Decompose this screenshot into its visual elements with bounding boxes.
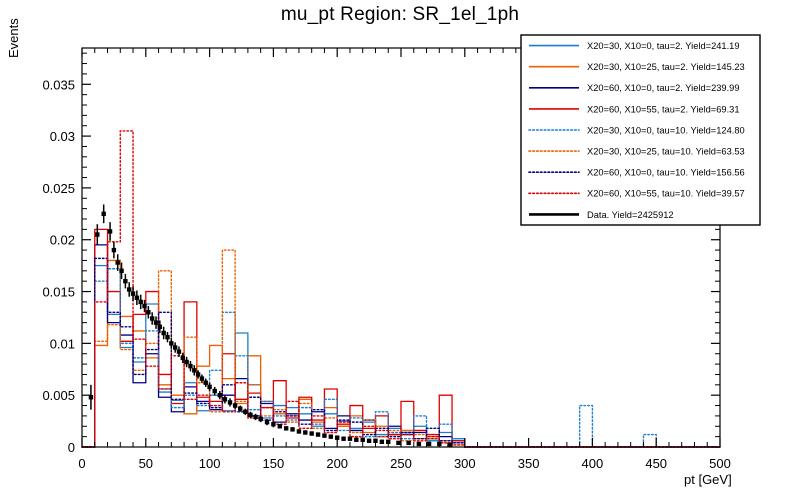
legend-label: X20=60, X10=55, tau=10. Yield=39.57: [587, 189, 745, 199]
data-marker: [169, 341, 173, 345]
data-marker: [154, 320, 158, 324]
data-marker: [108, 229, 112, 233]
data-marker: [361, 438, 365, 442]
x-tick-label: 200: [326, 456, 348, 471]
data-marker: [181, 356, 185, 360]
data-marker: [223, 397, 227, 401]
legend-label: X20=30, X10=0, tau=10. Yield=124.80: [587, 125, 745, 135]
data-marker: [303, 430, 307, 434]
data-marker: [367, 439, 371, 443]
x-tick-label: 100: [199, 456, 221, 471]
plot-area: 05010015020025030035040045050000.0050.01…: [0, 0, 800, 500]
data-marker: [238, 406, 242, 410]
data-marker: [112, 248, 116, 252]
data-marker: [233, 403, 237, 407]
data-marker: [161, 331, 165, 335]
x-tick-label: 400: [582, 456, 604, 471]
data-marker: [427, 442, 431, 446]
data-marker: [278, 424, 282, 428]
y-tick-label: 0.02: [50, 233, 75, 248]
data-marker: [258, 417, 262, 421]
x-tick-label: 500: [709, 456, 731, 471]
data-marker: [146, 310, 150, 314]
data-marker: [142, 304, 146, 308]
x-tick-label: 50: [139, 456, 153, 471]
data-marker: [322, 433, 326, 437]
legend-label: X20=30, X10=25, tau=2. Yield=145.23: [587, 62, 745, 72]
y-tick-label: 0.01: [50, 336, 75, 351]
y-tick-label: 0.025: [42, 181, 75, 196]
x-tick-label: 150: [263, 456, 285, 471]
x-tick-label: 0: [78, 456, 85, 471]
y-tick-label: 0: [68, 440, 75, 455]
data-marker: [196, 372, 200, 376]
data-marker: [354, 438, 358, 442]
data-marker: [228, 400, 232, 404]
data-marker: [406, 441, 410, 445]
data-marker: [101, 212, 105, 216]
data-marker: [309, 431, 313, 435]
x-tick-label: 350: [518, 456, 540, 471]
data-marker: [243, 410, 247, 414]
data-marker: [200, 376, 204, 380]
data-marker: [341, 437, 345, 441]
data-marker: [417, 442, 421, 446]
data-marker: [329, 434, 333, 438]
data-marker: [116, 260, 120, 264]
data-marker: [123, 279, 127, 283]
y-tick-label: 0.035: [42, 77, 75, 92]
data-marker: [348, 437, 352, 441]
data-marker: [150, 316, 154, 320]
data-marker: [213, 389, 217, 393]
x-tick-label: 450: [645, 456, 667, 471]
data-marker: [204, 381, 208, 385]
data-marker: [290, 427, 294, 431]
x-tick-label: 300: [454, 456, 476, 471]
data-marker: [95, 232, 99, 236]
data-marker: [135, 296, 139, 300]
data-marker: [218, 393, 222, 397]
legend-label: X20=60, X10=0, tau=10. Yield=156.56: [587, 168, 745, 178]
legend-label: X20=60, X10=0, tau=2. Yield=239.99: [587, 83, 740, 93]
y-tick-label: 0.005: [42, 388, 75, 403]
data-marker: [131, 291, 135, 295]
data-marker: [165, 335, 169, 339]
data-marker: [248, 413, 252, 417]
data-marker: [119, 269, 123, 273]
legend-label: X20=30, X10=0, tau=2. Yield=241.19: [587, 41, 740, 51]
chart-legend[interactable]: X20=30, X10=0, tau=2. Yield=241.19X20=30…: [521, 35, 760, 225]
data-marker: [184, 360, 188, 364]
data-marker: [253, 415, 257, 419]
legend-label: X20=30, X10=25, tau=10. Yield=63.53: [587, 147, 745, 157]
legend-label: X20=60, X10=55, tau=2. Yield=69.31: [587, 104, 740, 114]
data-marker: [297, 429, 301, 433]
data-marker: [158, 325, 162, 329]
y-tick-label: 0.015: [42, 285, 75, 300]
data-marker: [380, 440, 384, 444]
series-line-3: [82, 229, 720, 447]
data-points-series: [89, 204, 452, 447]
data-marker: [316, 432, 320, 436]
data-marker: [396, 441, 400, 445]
data-marker: [265, 420, 269, 424]
data-marker: [284, 426, 288, 430]
legend-label: Data. Yield=2425912: [587, 210, 674, 220]
data-marker: [127, 287, 131, 291]
data-marker: [173, 345, 177, 349]
data-marker: [177, 349, 181, 353]
y-tick-label: 0.03: [50, 129, 75, 144]
data-marker: [138, 300, 142, 304]
data-marker: [207, 385, 211, 389]
data-marker: [192, 368, 196, 372]
data-marker: [271, 422, 275, 426]
x-tick-label: 250: [390, 456, 412, 471]
data-marker: [188, 364, 192, 368]
chart-root: mu_pt Region: SR_1el_1ph Events pt [GeV]…: [0, 0, 800, 500]
